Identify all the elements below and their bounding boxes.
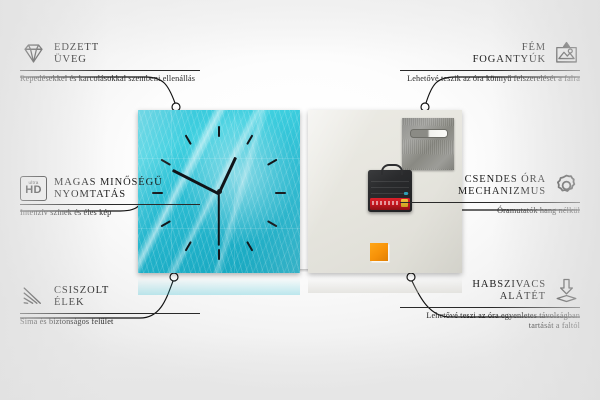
feature-polished-edges: CSISZOLT ÉLEK Sima és biztonságos felüle… [20, 283, 200, 327]
divider [20, 70, 200, 71]
feature-description: Repedésekkel és karcolásokkal szembeni e… [20, 74, 200, 84]
feature-title: CSISZOLT ÉLEK [54, 285, 109, 308]
feature-foam-pad: HABSZIVACS ALÁTÉT Lehetővé teszi az óra … [400, 277, 580, 330]
feature-title: CSENDES ÓRA MECHANIZMUS [458, 174, 546, 197]
feature-description: Lehetővé teszik az óra könnyű felszerelé… [400, 74, 580, 84]
feature-metal-handles: FÉM FOGANTYÚK Lehetővé teszik az óra kön… [400, 40, 580, 84]
feature-title: EDZETT ÜVEG [54, 42, 99, 65]
feature-description: Lehetővé teszi az óra egyenletes távolsá… [400, 311, 580, 330]
divider [400, 202, 580, 203]
feature-title: MAGAS MINŐSÉGŰ NYOMTATÁS [54, 177, 163, 200]
feature-description: Óramutatók hang nélkül [400, 206, 580, 216]
feature-silent-mechanism: CSENDES ÓRA MECHANIZMUS Óramutatók hang … [400, 172, 580, 216]
feature-title: FÉM FOGANTYÚK [473, 42, 546, 65]
feature-description: Sima és biztonságos felület [20, 317, 200, 327]
divider [20, 313, 200, 314]
divider [400, 70, 580, 71]
divider [400, 307, 580, 308]
foam-pad-arrow-icon [553, 277, 580, 304]
gear-icon [553, 172, 580, 199]
feature-tempered-glass: EDZETT ÜVEG Repedésekkel és karcolásokka… [20, 40, 200, 84]
diamond-icon [20, 40, 47, 67]
ultra-hd-badge-icon: ultra HD [20, 176, 47, 201]
polished-edges-icon [20, 283, 47, 310]
infographic-canvas: EDZETT ÜVEG Repedésekkel és karcolásokka… [0, 0, 600, 400]
divider [20, 204, 200, 205]
picture-frame-icon [553, 40, 580, 67]
feature-title: HABSZIVACS ALÁTÉT [472, 279, 546, 302]
feature-description: Intenzív színek és éles kép [20, 208, 200, 218]
feature-high-quality-print: ultra HD MAGAS MINŐSÉGŰ NYOMTATÁS Intenz… [20, 176, 200, 218]
